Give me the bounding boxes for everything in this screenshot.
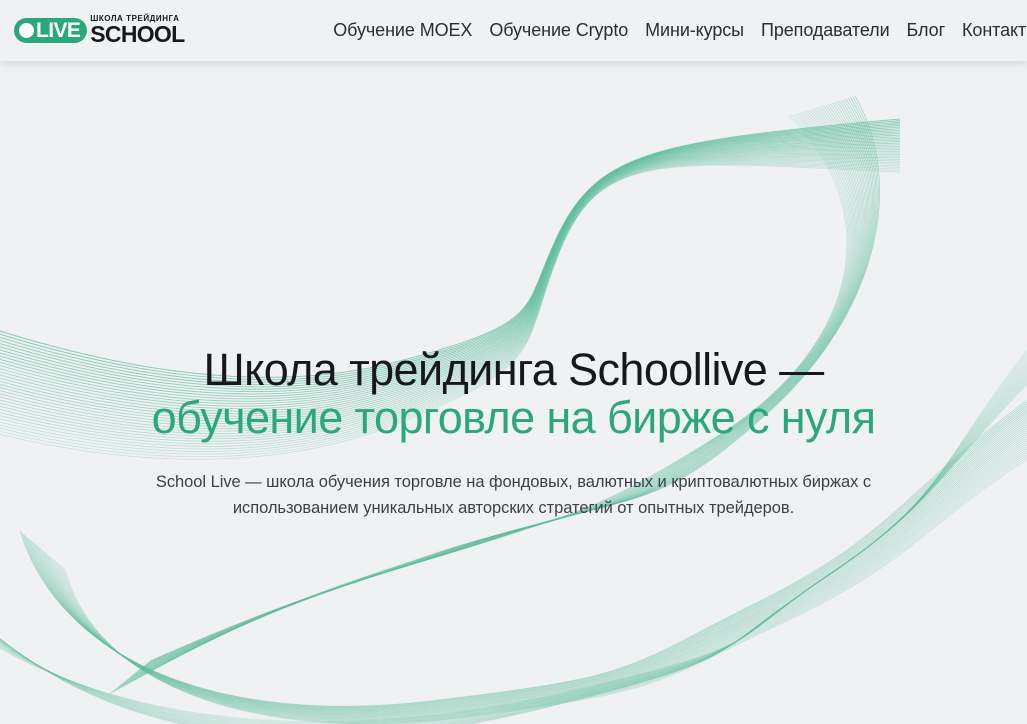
page-title: Школа трейдинга Schoollive — обучение то…: [0, 346, 1027, 442]
nav-item-obuchenie-moex[interactable]: Обучение MOEX: [333, 20, 472, 41]
nav-item-blog[interactable]: Блог: [907, 20, 946, 41]
page-root: LIVE ШКОЛА ТРЕЙДИНГА SCHOOL Обучение MOE…: [0, 0, 1027, 724]
headline-line-2: обучение торговле на бирже с нуля: [152, 392, 876, 443]
logo-badge: LIVE: [14, 18, 87, 43]
hero-section: Школа трейдинга Schoollive — обучение то…: [0, 61, 1027, 724]
nav-item-mini-kursy[interactable]: Мини-курсы: [645, 20, 744, 41]
site-logo[interactable]: LIVE ШКОЛА ТРЕЙДИНГА SCHOOL: [14, 15, 184, 45]
nav-item-prepodavateli[interactable]: Преподаватели: [761, 20, 890, 41]
logo-wordmark: ШКОЛА ТРЕЙДИНГА SCHOOL: [90, 15, 184, 45]
main-navigation: Обучение MOEX Обучение Crypto Мини-курсы…: [333, 20, 1027, 41]
circle-dot-icon: [19, 23, 34, 38]
nav-item-obuchenie-crypto[interactable]: Обучение Crypto: [489, 20, 628, 41]
hero-subtitle: School Live — школа обучения торговле на…: [99, 470, 929, 521]
headline-line-1: Школа трейдинга Schoollive —: [203, 344, 823, 395]
subtitle-line-1: School Live — школа обучения торговле на…: [156, 473, 858, 491]
nav-item-kontakty[interactable]: Контакты: [962, 20, 1027, 41]
logo-live-text: LIVE: [36, 20, 80, 41]
site-header: LIVE ШКОЛА ТРЕЙДИНГА SCHOOL Обучение MOE…: [0, 0, 1027, 61]
hero-content: Школа трейдинга Schoollive — обучение то…: [0, 61, 1027, 521]
logo-school-text: SCHOOL: [90, 24, 184, 45]
